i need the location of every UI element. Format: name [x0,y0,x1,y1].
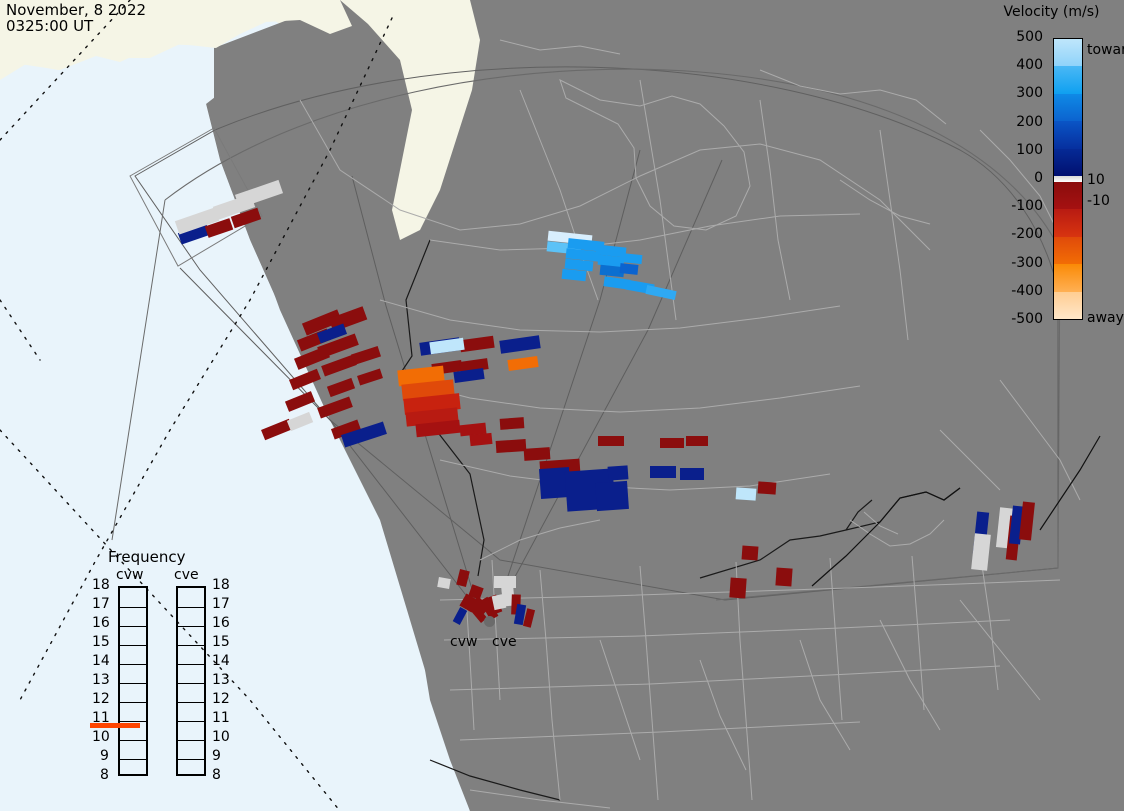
frequency-scale-value: 14 [212,653,230,669]
frequency-tick-line [120,645,146,646]
frequency-tick-line [120,702,146,703]
velocity-label-toward: toward [1087,42,1124,58]
velocity-tick-100: 100 [1016,142,1043,158]
velocity-cell [285,391,315,412]
velocity-cell [496,439,527,453]
frequency-legend-title: Frequency [108,548,186,566]
velocity-cell [469,433,492,446]
velocity-band-2 [1054,94,1082,122]
frequency-tick-line [178,740,204,741]
velocity-cell [686,436,708,446]
frequency-scale-value: 9 [212,748,221,764]
frequency-scale-value: 16 [92,615,110,631]
frequency-scale-value: 11 [212,710,230,726]
frequency-scale-value: 17 [92,596,110,612]
velocity-band-7 [1054,209,1082,237]
velocity-cell [507,356,538,371]
velocity-cell [499,335,540,353]
velocity-cell [456,569,470,587]
frequency-marker-cve [96,723,140,728]
velocity-cell [494,576,516,588]
frequency-tick-line [178,702,204,703]
velocity-band-0 [1054,39,1082,67]
velocity-cell [729,577,746,598]
velocity-label-inner-high: 10 [1087,172,1105,188]
velocity-tick--200: -200 [1011,226,1043,242]
site-label-cve: cve [492,634,517,650]
velocity-cell [289,369,321,390]
frequency-tick-line [120,683,146,684]
frequency-scale-value: 16 [212,615,230,631]
frequency-column-header-cvw: cvw [116,567,143,583]
frequency-bar-cve [176,586,206,776]
radar-map-view: cvw cve November, 8 20220325:00 UT Veloc… [0,0,1124,811]
velocity-cell [562,269,587,281]
velocity-cell [357,369,383,386]
velocity-band-10 [1054,292,1082,320]
frequency-scale-value: 12 [212,691,230,707]
frequency-scale-value: 12 [92,691,110,707]
velocity-cell [351,346,381,365]
frequency-scale-value: 15 [212,634,230,650]
velocity-cell [524,447,551,461]
velocity-cell [235,180,283,208]
frequency-column-header-cve: cve [174,567,199,583]
velocity-cell [660,438,684,448]
velocity-cell [1019,501,1035,540]
frequency-tick-line [120,626,146,627]
velocity-cell [327,378,355,397]
frequency-scale-value: 13 [212,672,230,688]
frequency-tick-line [178,664,204,665]
velocity-band-4 [1054,149,1082,177]
frequency-scale-value: 15 [92,634,110,650]
velocity-cell [620,263,639,275]
velocity-band-8 [1054,237,1082,265]
frequency-tick-line [178,626,204,627]
radar-site-dot [484,616,495,627]
velocity-label-away: away [1087,310,1124,326]
velocity-cell [971,533,991,570]
frequency-scale-value: 10 [212,729,230,745]
velocity-legend: Velocity (m/s) 5004003002001000-100-200-… [975,2,1123,332]
velocity-cell [595,481,629,511]
frequency-scale-value: 18 [92,577,110,593]
velocity-cell [500,417,525,430]
frequency-scale-value: 9 [100,748,109,764]
timestamp-time: 0325:00 UT [6,17,93,35]
velocity-cell [650,466,676,478]
velocity-tick-300: 300 [1016,85,1043,101]
frequency-scale-value: 14 [92,653,110,669]
frequency-tick-line [178,721,204,722]
velocity-cell [598,436,624,446]
frequency-tick-line [120,664,146,665]
velocity-band-3 [1054,121,1082,149]
timestamp: November, 8 20220325:00 UT [6,2,146,34]
frequency-tick-line [178,607,204,608]
velocity-cell [775,567,792,586]
velocity-tick--400: -400 [1011,283,1043,299]
velocity-cell [437,577,451,589]
velocity-tick--500: -500 [1011,311,1043,327]
frequency-tick-line [120,759,146,760]
velocity-tick-0: 0 [1034,170,1043,186]
frequency-scale-value: 8 [100,767,109,783]
velocity-tick--300: -300 [1011,255,1043,271]
frequency-tick-line [120,740,146,741]
velocity-band-9 [1054,264,1082,292]
frequency-scale-value: 18 [212,577,230,593]
velocity-band-6 [1054,182,1082,210]
velocity-colorbar [1053,38,1083,320]
velocity-cell [680,468,704,480]
frequency-scale-value: 10 [92,729,110,745]
velocity-tick-200: 200 [1016,114,1043,130]
frequency-tick-line [178,645,204,646]
frequency-tick-line [178,759,204,760]
frequency-scale-value: 17 [212,596,230,612]
velocity-tick-400: 400 [1016,57,1043,73]
velocity-cell [317,397,353,419]
velocity-cell [453,607,468,625]
frequency-legend: Frequency cvw cve 18171615141312111098 1… [100,548,265,780]
frequency-tick-line [178,683,204,684]
frequency-scale-value: 8 [212,767,221,783]
velocity-legend-title: Velocity (m/s) [980,4,1123,20]
velocity-cell [608,465,629,480]
velocity-band-1 [1054,66,1082,94]
site-label-cvw: cvw [450,634,477,650]
velocity-cell [287,412,313,431]
velocity-label-inner-low: -10 [1087,193,1110,209]
frequency-scale-value: 13 [92,672,110,688]
velocity-cell [742,545,759,560]
velocity-cell [736,487,757,500]
velocity-cell [645,285,676,300]
velocity-tick--100: -100 [1011,198,1043,214]
velocity-cell [758,481,777,494]
frequency-bar-cvw [118,586,148,776]
frequency-tick-line [120,607,146,608]
velocity-cell [459,336,494,353]
velocity-tick-500: 500 [1016,29,1043,45]
